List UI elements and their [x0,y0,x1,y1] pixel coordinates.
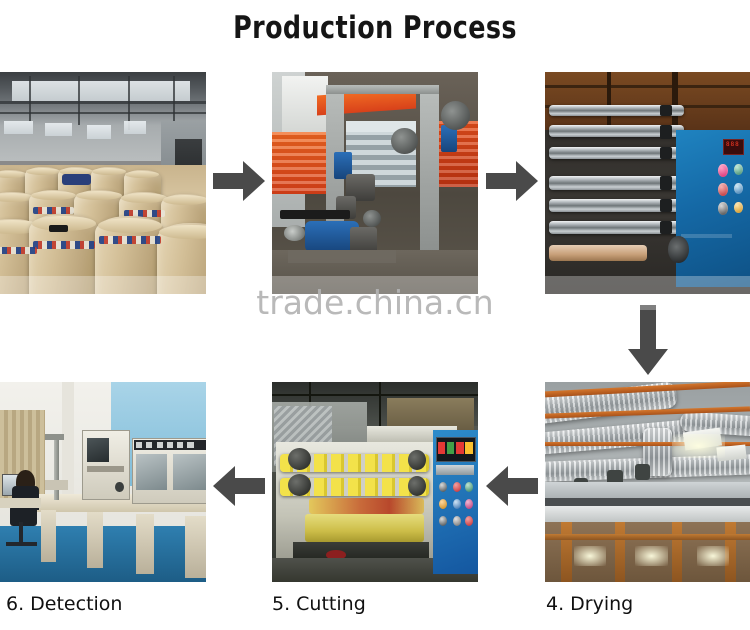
step-image-raw-material [0,72,206,294]
step-image-printing [272,72,478,294]
production-process-infographic: Production Process [0,0,750,630]
step-image-coating: 888 [545,72,750,294]
caption-drying: 4. Drying [546,593,633,615]
arrow-4-to-5 [486,463,538,509]
arrow-2-to-3 [486,158,538,204]
arrow-1-to-2 [213,158,265,204]
page-title: Production Process [68,10,683,46]
caption-detection: 6. Detection [6,593,122,615]
step-image-detection [0,382,206,582]
step-image-drying [545,382,750,582]
arrow-3-to-4 [625,305,671,375]
arrow-5-to-6 [213,463,265,509]
caption-cutting: 5. Cutting [272,593,366,615]
step-image-cutting [272,382,478,582]
control-panel-coating: 888 [676,130,750,288]
control-panel-cutting [433,430,478,574]
